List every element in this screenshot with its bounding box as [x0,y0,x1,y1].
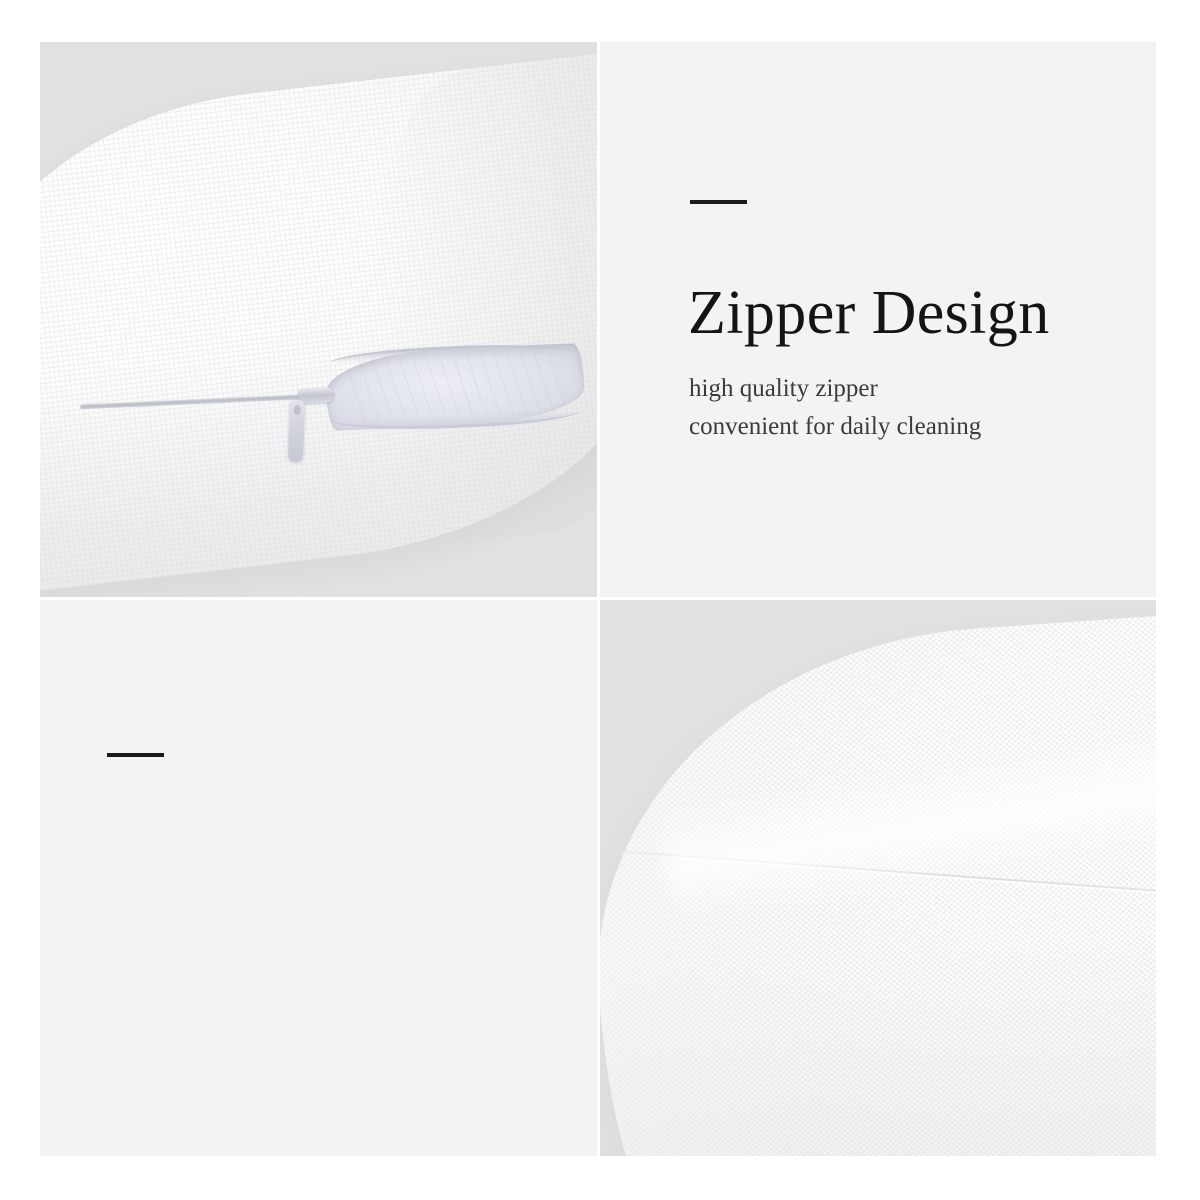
linen-text-panel: Breathable Linen breathable linen not ea… [40,600,597,1156]
zipper-subcopy: high quality zipper convenient for daily… [689,370,981,446]
pillow-zipper-image [40,52,597,597]
pillow-linen-corner-image [600,601,1156,1156]
zipper-headline: Zipper Design [688,282,1050,344]
horizontal-rule-icon [690,200,747,204]
linen-shading [600,601,1156,1156]
zipper-pull-tab-icon [288,400,305,462]
linen-photo-panel [600,600,1156,1156]
zipper-photo-panel [40,42,597,597]
horizontal-rule-icon [107,753,164,757]
product-feature-grid: Zipper Design high quality zipper conven… [0,0,1200,1200]
zipper-open-mouth [325,343,586,431]
zipper-text-panel: Zipper Design high quality zipper conven… [600,42,1156,597]
